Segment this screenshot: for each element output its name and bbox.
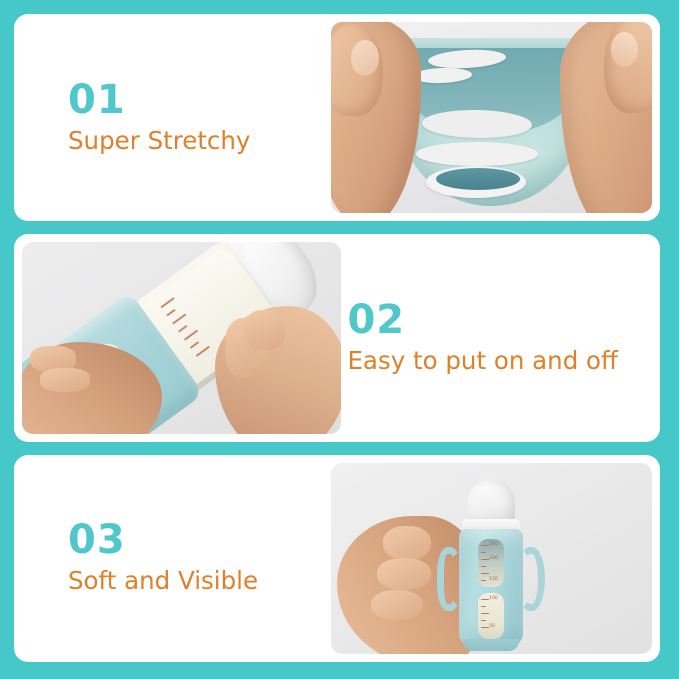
panel-01-image-area <box>331 14 660 221</box>
panel-03-image-area: 250 200 150 100 <box>331 455 660 662</box>
silicone-sleeve-upright: 250 200 150 100 <box>459 529 523 647</box>
thumb <box>245 310 285 350</box>
scale-tick <box>481 573 489 574</box>
scale-label: 100 <box>489 596 498 601</box>
scale-tick <box>481 552 486 553</box>
scale-label: 150 <box>489 577 498 582</box>
silicone-sleeve-stretched <box>396 38 586 206</box>
panel-02-caption: Easy to put on and off <box>345 345 660 377</box>
sleeve-handle-right <box>519 547 545 611</box>
scale-tick <box>166 309 175 316</box>
feature-panel-02: 02 Easy to put on and off <box>14 234 660 441</box>
sleeve-handle-left <box>437 547 463 611</box>
sleeve-base-band <box>436 168 520 190</box>
sleeve-window-top: 250 200 150 <box>478 539 504 587</box>
sleeve-cutout-lower <box>416 142 538 166</box>
panel-03-text: 03 Soft and Visible <box>14 455 331 662</box>
scale-tick <box>178 325 187 332</box>
sleeve-base <box>463 639 519 651</box>
panel-02-text: 02 Easy to put on and off <box>345 234 660 441</box>
scale-label: 200 <box>489 556 498 561</box>
panel-01-number: 01 <box>68 79 331 121</box>
panel-03-caption: Soft and Visible <box>68 565 331 597</box>
scale-tick <box>481 566 486 567</box>
scale-tick <box>481 580 486 581</box>
scale-label: 250 <box>489 542 498 547</box>
finger-right-thumb <box>604 22 652 113</box>
panel-02-image-area <box>14 234 341 441</box>
scale-tick <box>481 627 489 628</box>
infographic-board: 01 Super Stretchy <box>0 0 679 679</box>
knuckle <box>371 590 423 620</box>
scale-tick <box>481 559 489 560</box>
panel-03-number: 03 <box>68 519 331 561</box>
photo-hand-holding-bottle: 250 200 150 100 <box>331 463 652 654</box>
scale-tick <box>481 599 489 600</box>
thumbnail-left <box>351 40 379 76</box>
scale-tick <box>481 620 486 621</box>
finger <box>40 368 90 392</box>
scale-tick <box>184 330 198 341</box>
photo-hands-stretching-sleeve <box>331 22 652 213</box>
feature-panel-01: 01 Super Stretchy <box>14 14 660 221</box>
photo-sliding-sleeve-onto-bottle <box>22 242 341 433</box>
scale-tick <box>481 606 486 607</box>
feature-panel-03: 03 Soft and Visible <box>14 455 660 662</box>
panel-01-caption: Super Stretchy <box>68 125 331 157</box>
scale-tick <box>481 545 489 546</box>
scale-tick <box>190 341 199 348</box>
hand-right <box>560 22 652 213</box>
knuckle <box>377 558 431 590</box>
thumbnail-right <box>611 32 638 67</box>
knuckle <box>383 526 431 560</box>
scale-label: 50 <box>489 624 495 629</box>
panel-01-text: 01 Super Stretchy <box>14 14 331 221</box>
panel-02-number: 02 <box>345 299 660 341</box>
sleeve-window-bottom: 100 50 <box>478 593 504 639</box>
scale-tick <box>160 297 174 308</box>
scale-tick <box>481 613 489 614</box>
scale-tick <box>195 346 209 357</box>
hand-right-holding-bottle <box>215 306 341 434</box>
scale-tick <box>172 313 186 324</box>
bottle-with-sleeve: 250 200 150 100 <box>448 479 534 647</box>
finger-left-thumb <box>331 24 383 116</box>
hand-left <box>331 22 421 213</box>
